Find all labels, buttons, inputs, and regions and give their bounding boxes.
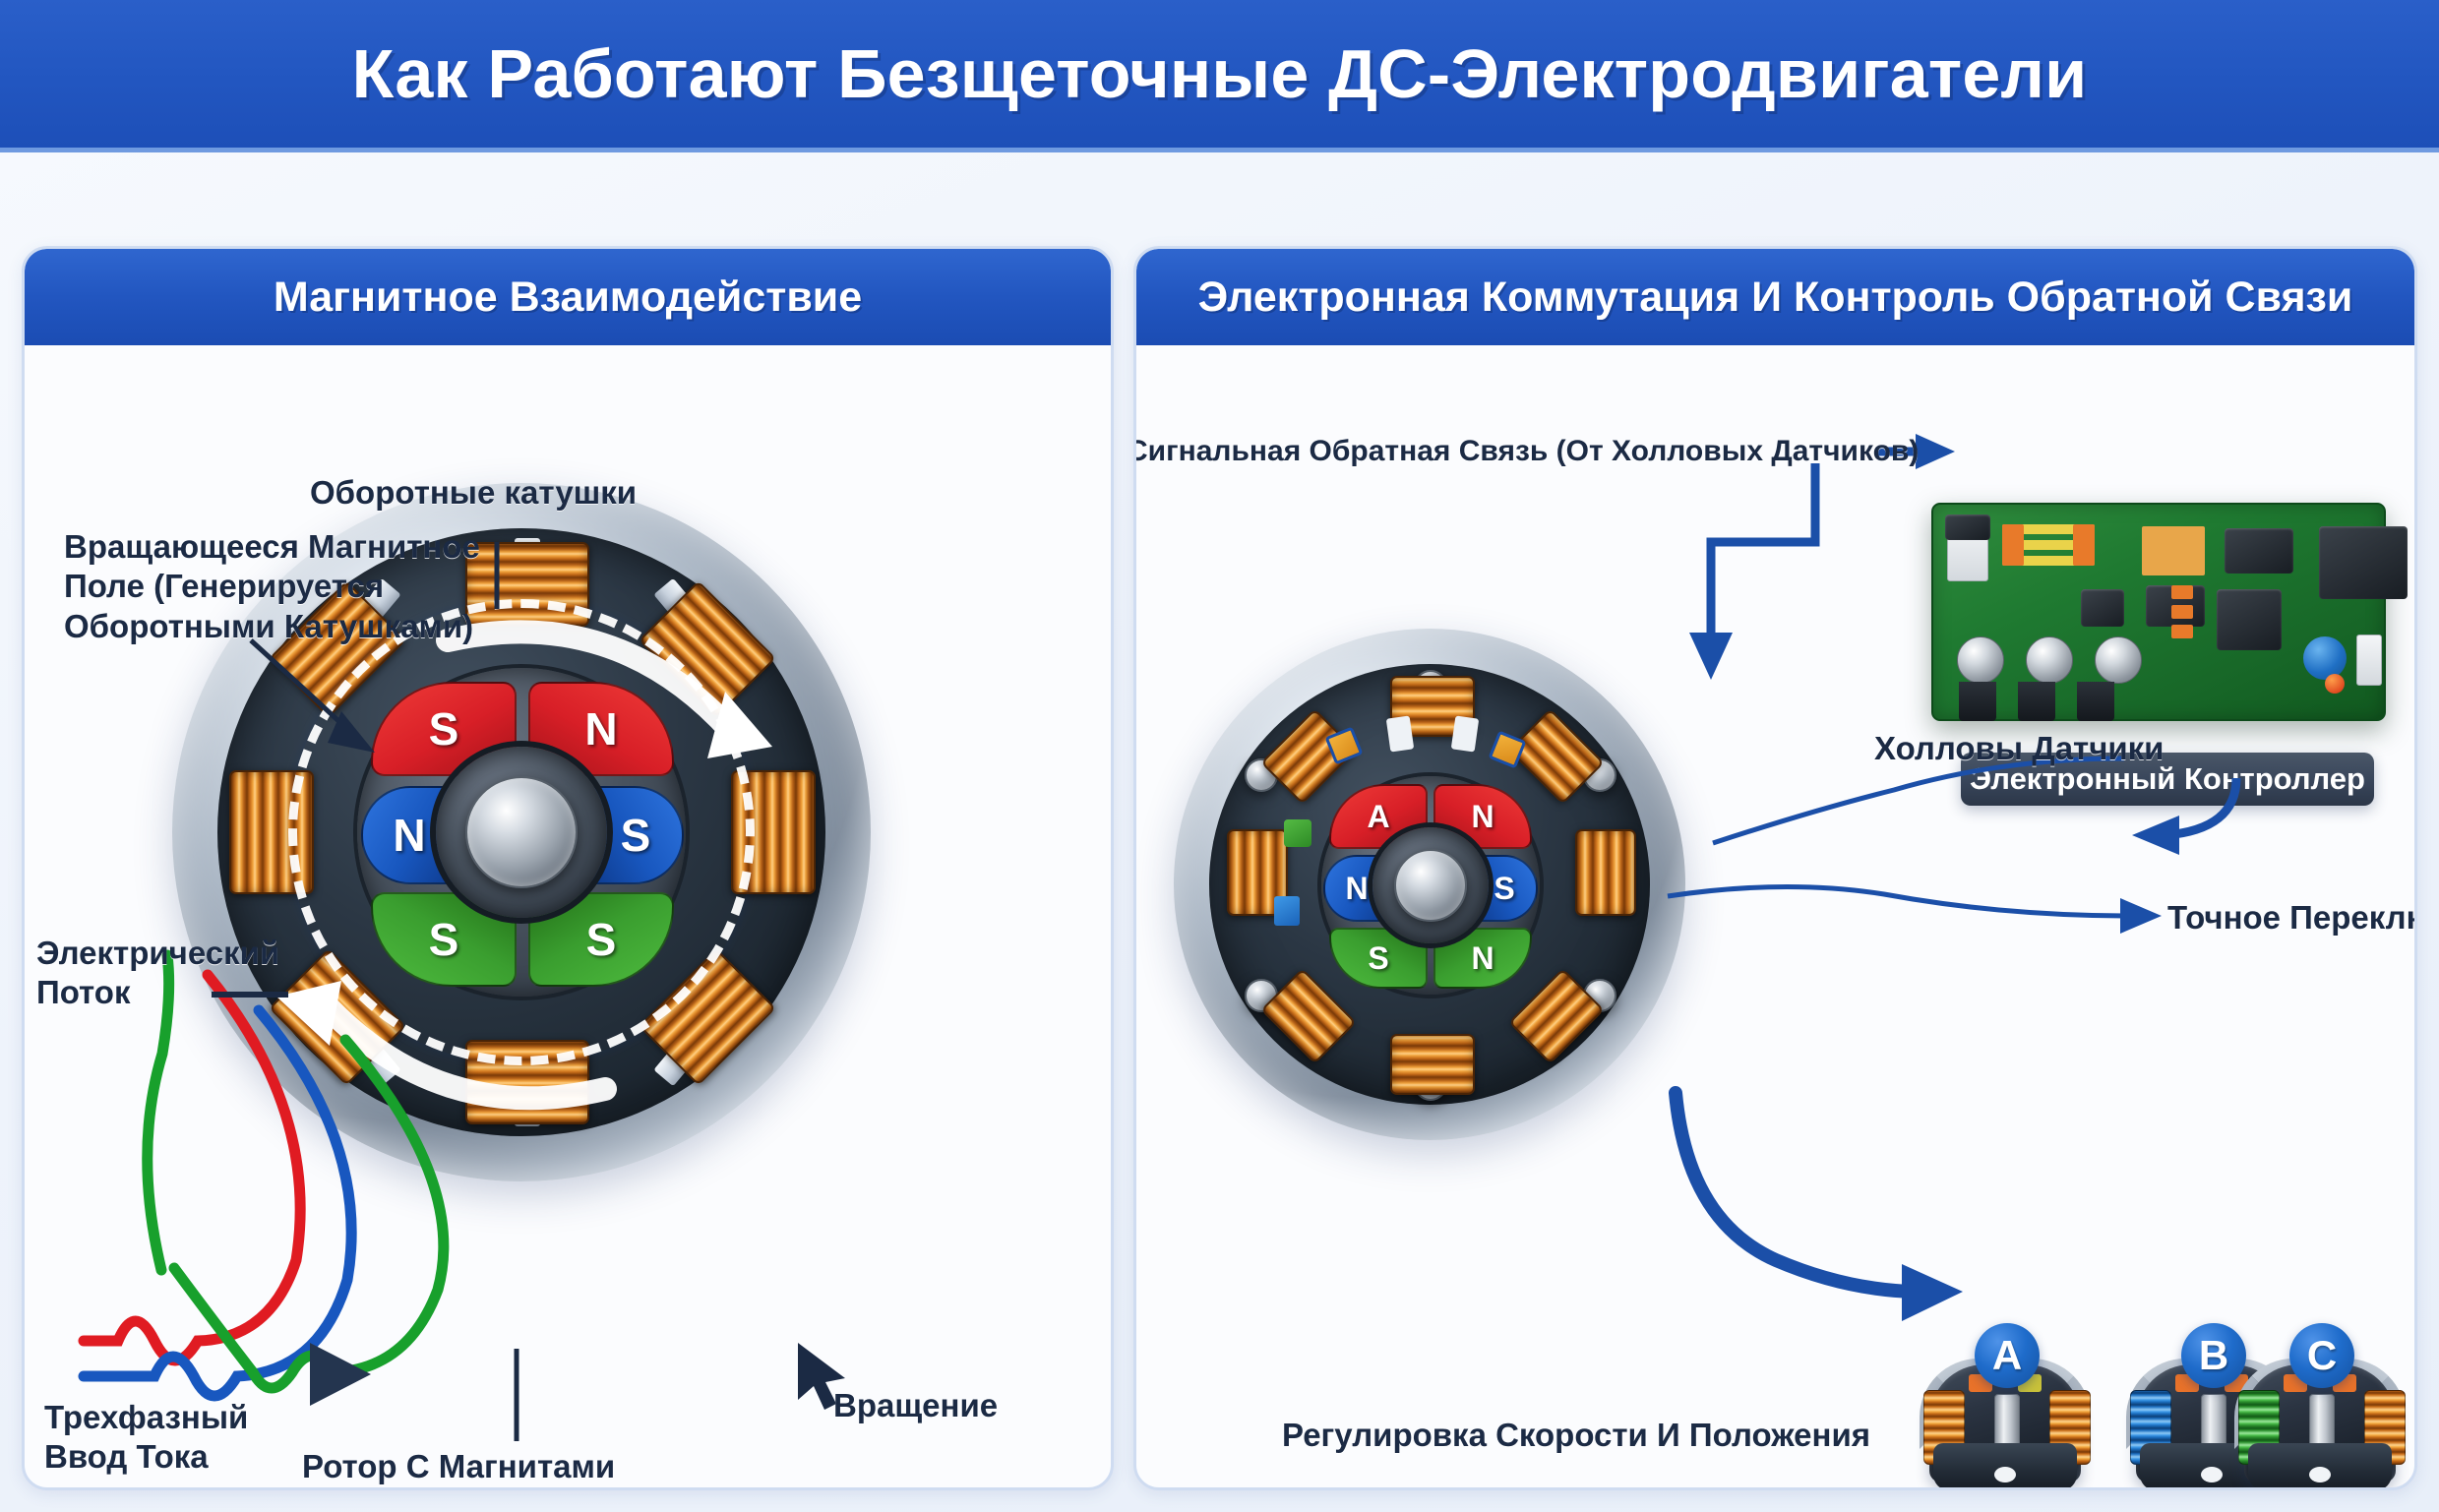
- panel-magnetic-interaction: Магнитное Взаимодействие: [22, 246, 1114, 1490]
- phase-badge-label: A: [1992, 1332, 2022, 1379]
- page-title-bar: Как Работают Безщеточные ДС-Электродвига…: [0, 0, 2439, 152]
- panel-left-header-label: Магнитное Взаимодействие: [274, 273, 862, 322]
- label-hall-sensors: Холловы Датчики: [1874, 729, 2164, 768]
- panel-right-body: A N N S S N: [1136, 345, 2414, 1487]
- label-electric-flow: Электрический Поток: [36, 934, 279, 1013]
- panel-right-header-label: Электронная Коммутация И Контроль Обратн…: [1198, 273, 2353, 322]
- label-speed-position: Регулировка Скорости И Положения: [1282, 1416, 1870, 1455]
- phase-badge-b: B: [2181, 1323, 2246, 1388]
- phase-badge-label: C: [2307, 1332, 2337, 1379]
- label-precise-switching: Точное Переключение Тока: [2167, 898, 2417, 937]
- label-signal-feedback: Сигнальная Обратная Связь (От Холловых Д…: [1133, 434, 1919, 470]
- label-rotation: Вращение: [833, 1386, 998, 1425]
- phase-badge-c: C: [2289, 1323, 2354, 1388]
- infographic-page: Как Работают Безщеточные ДС-Электродвига…: [0, 0, 2439, 1512]
- left-leader-lines-svg: [25, 345, 1114, 1490]
- label-rotor-magnets: Ротор С Магнитами: [302, 1447, 615, 1486]
- label-three-phase-input: Трехфазный Ввод Тока: [44, 1398, 248, 1478]
- panel-left-body: S N N S S S: [25, 345, 1111, 1487]
- panel-electronic-commutation: Электронная Коммутация И Контроль Обратн…: [1133, 246, 2417, 1490]
- label-rotating-field: Вращающееся Магнитное Поле (Генерируется…: [64, 527, 480, 646]
- phase-badge-a: A: [1975, 1323, 2040, 1388]
- panel-right-header: Электронная Коммутация И Контроль Обратн…: [1136, 249, 2414, 345]
- page-title: Как Работают Безщеточные ДС-Электродвига…: [352, 34, 2088, 113]
- panel-left-header: Магнитное Взаимодействие: [25, 249, 1111, 345]
- phase-badge-label: B: [2199, 1332, 2228, 1379]
- label-stator-coils: Оборотные катушки: [310, 473, 637, 513]
